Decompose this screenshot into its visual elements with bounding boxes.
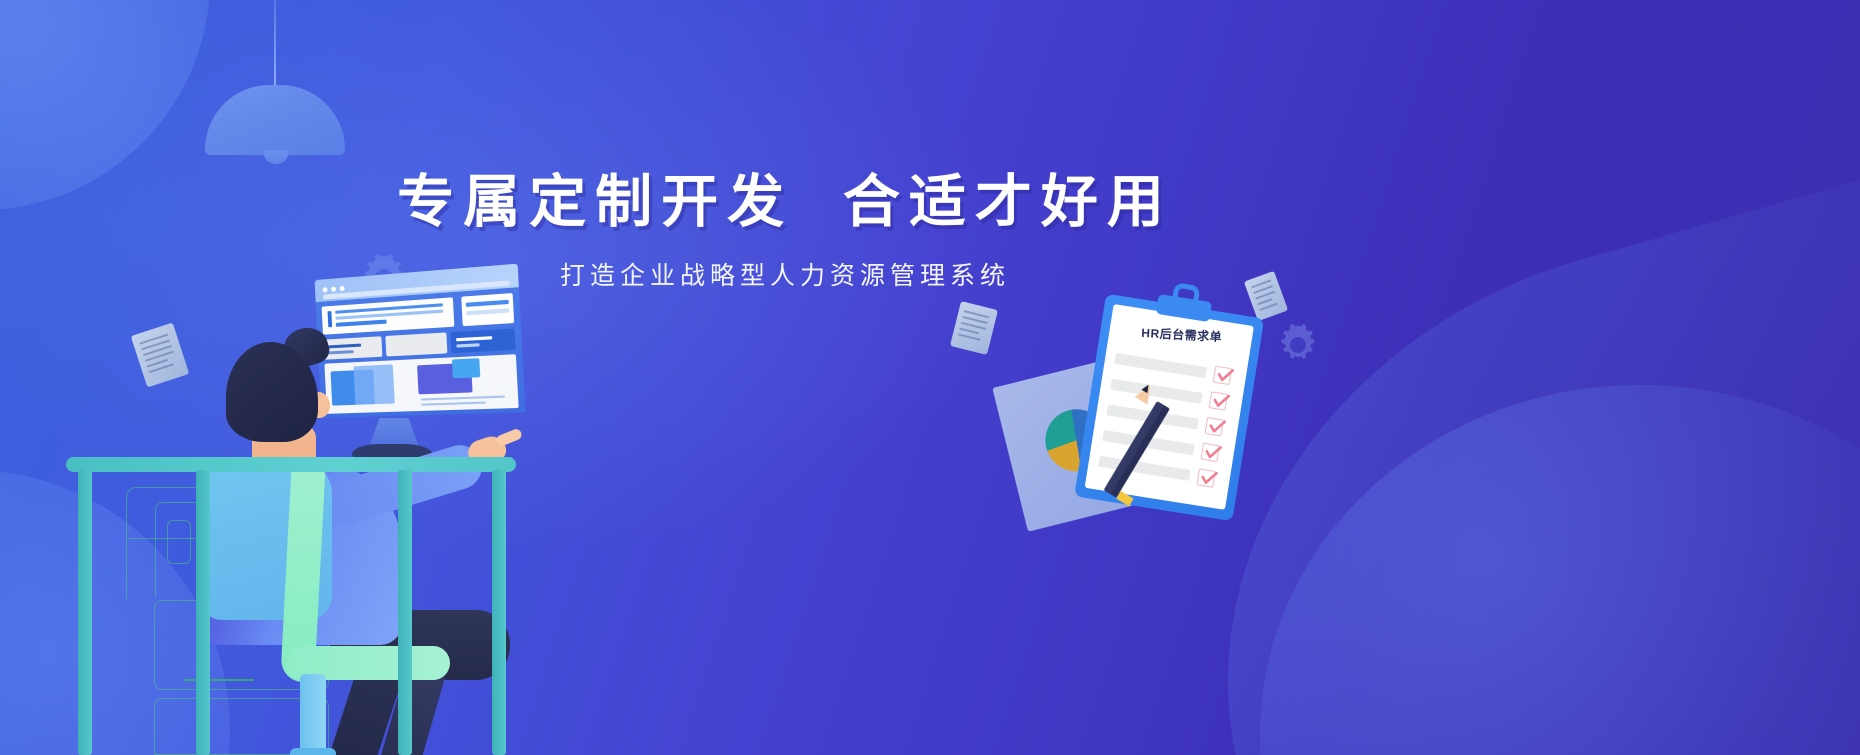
checkbox-checked[interactable] <box>1213 366 1232 385</box>
clipboard-title: HR后台需求单 <box>1125 323 1238 346</box>
checkbox-checked[interactable] <box>1205 417 1224 436</box>
desk-leg <box>196 470 210 755</box>
lamp-cord-icon <box>274 0 276 87</box>
checkbox-checked[interactable] <box>1209 391 1228 410</box>
chair-post <box>300 674 326 755</box>
checkbox-checked[interactable] <box>1200 443 1219 462</box>
hero-banner: 专属定制开发 合适才好用 打造企业战略型人力资源管理系统 <box>0 0 1860 755</box>
gear-icon <box>1275 322 1321 368</box>
desk-leg <box>398 470 412 755</box>
desk-leg <box>78 470 92 755</box>
desk-top <box>66 457 516 472</box>
pointing-finger <box>495 428 523 448</box>
pendant-lamp <box>205 0 350 165</box>
hero-subtitle: 打造企业战略型人力资源管理系统 <box>0 256 1570 292</box>
desk-leg <box>492 470 506 755</box>
lamp-bulb <box>263 150 289 164</box>
lamp-shade <box>205 85 345 155</box>
clipboard-line <box>1114 353 1207 378</box>
hero-headline: 专属定制开发 合适才好用 <box>0 168 1570 238</box>
checkbox-checked[interactable] <box>1196 468 1215 487</box>
clipboard-line <box>1110 379 1203 404</box>
chair-hub <box>290 748 336 755</box>
hr-requirements-clipboard: HR后台需求单 <box>1074 284 1266 521</box>
hero-copy: 专属定制开发 合适才好用 打造企业战略型人力资源管理系统 <box>0 168 1570 292</box>
clipboard-paper: HR后台需求单 <box>1085 304 1254 510</box>
window-dots-icon <box>323 286 345 293</box>
